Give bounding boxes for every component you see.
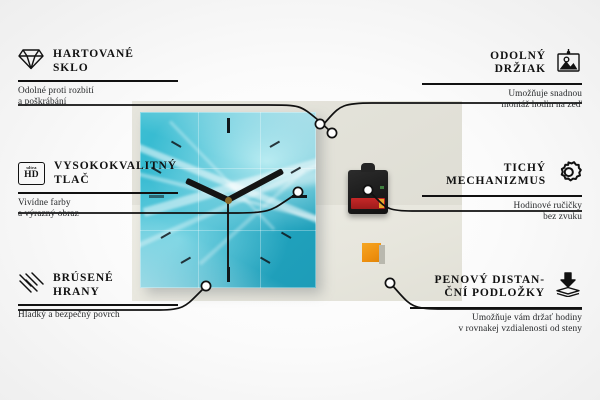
feature-high-quality-print: ultra HD VYSOKOKVALITNÝ TLAČ Vivídne far…: [18, 160, 193, 221]
glass-reflection-line: [198, 112, 199, 288]
foam-spacer-pad: [362, 243, 381, 262]
ground-edges-icon: [18, 272, 44, 299]
clock-tick-4: [281, 232, 292, 239]
feature-desc-line: Umožňuje vám držať hodiny: [395, 313, 582, 325]
glass-reflection-line: [260, 112, 261, 288]
mechanism-indicator: [380, 186, 384, 189]
infographic-canvas: HARTOVANÉ SKLO Odolné proti rozbití a po…: [0, 0, 600, 400]
feature-heading: HARTOVANÉ SKLO: [18, 48, 193, 75]
feature-title: BRÚSENÉ HRANY: [53, 272, 114, 299]
feature-heading: ODOLNÝ DRŽIAK: [407, 48, 582, 78]
gear-icon: [555, 160, 582, 190]
feature-title: PENOVÝ DISTAN- ČNÍ PODLOŽKY: [435, 274, 545, 301]
feature-ground-edges: BRÚSENÉ HRANY Hladký a bezpečný povrch: [18, 272, 193, 321]
feature-desc-line: a výrazný obraz: [18, 209, 193, 221]
feature-desc-line: Hodinové ručičky: [407, 201, 582, 213]
ultra-hd-icon: ultra HD: [18, 162, 45, 185]
feature-desc-line: bez zvuku: [407, 212, 582, 224]
clock-second-hand: [227, 200, 229, 268]
clock-tick-12: [227, 118, 230, 133]
clock-center-pin: [225, 197, 232, 204]
stacked-layers-arrow-icon: [554, 272, 582, 302]
feature-durable-hanger: ODOLNÝ DRŽIAK Umožňuje snadnou montáž ho…: [407, 48, 582, 112]
mechanism-hanger-tab: [361, 163, 375, 172]
feature-silent-mechanism: TICHÝ MECHANIZMUS Hodinové ručičky bez z…: [407, 160, 582, 224]
feature-title: HARTOVANÉ SKLO: [53, 48, 134, 75]
feature-heading: TICHÝ MECHANIZMUS: [407, 160, 582, 190]
clock-tick-1: [270, 141, 281, 148]
feature-title: TICHÝ MECHANIZMUS: [446, 162, 546, 189]
divider: [410, 307, 582, 309]
divider: [18, 80, 178, 82]
divider: [422, 83, 582, 85]
clock-tick-3: [292, 195, 307, 198]
feature-heading: ultra HD VYSOKOKVALITNÝ TLAČ: [18, 160, 193, 187]
feature-desc-line: a poškrábání: [18, 97, 193, 109]
feature-desc-line: Vivídne farby: [18, 198, 193, 210]
clock-tick-11: [171, 141, 182, 148]
feature-tempered-glass: HARTOVANÉ SKLO Odolné proti rozbití a po…: [18, 48, 193, 109]
feature-foam-spacers: PENOVÝ DISTAN- ČNÍ PODLOŽKY Umožňuje vám…: [395, 272, 582, 336]
clock-tick-7: [181, 257, 192, 264]
clock-tick-6: [227, 267, 230, 282]
feature-title: ODOLNÝ DRŽIAK: [490, 50, 546, 77]
feature-desc-line: Odolné proti rozbití: [18, 86, 193, 98]
feature-desc-line: montáž hodin na zeď: [407, 100, 582, 112]
divider: [18, 304, 178, 306]
battery: [351, 198, 385, 209]
feature-desc-line: v rovnakej vzdialenosti od steny: [395, 324, 582, 336]
feature-desc-line: Umožňuje snadnou: [407, 89, 582, 101]
diamond-icon: [18, 48, 44, 75]
picture-hanger-icon: [555, 48, 582, 78]
clock-tick-5: [260, 257, 271, 264]
divider: [18, 192, 178, 194]
divider: [422, 195, 582, 197]
feature-heading: PENOVÝ DISTAN- ČNÍ PODLOŽKY: [395, 272, 582, 302]
clock-mechanism: [348, 170, 388, 214]
feature-heading: BRÚSENÉ HRANY: [18, 272, 193, 299]
feature-desc-line: Hladký a bezpečný povrch: [18, 310, 193, 322]
ultra-hd-icon-main-label: HD: [24, 171, 39, 181]
feature-title: VYSOKOKVALITNÝ TLAČ: [54, 160, 177, 187]
